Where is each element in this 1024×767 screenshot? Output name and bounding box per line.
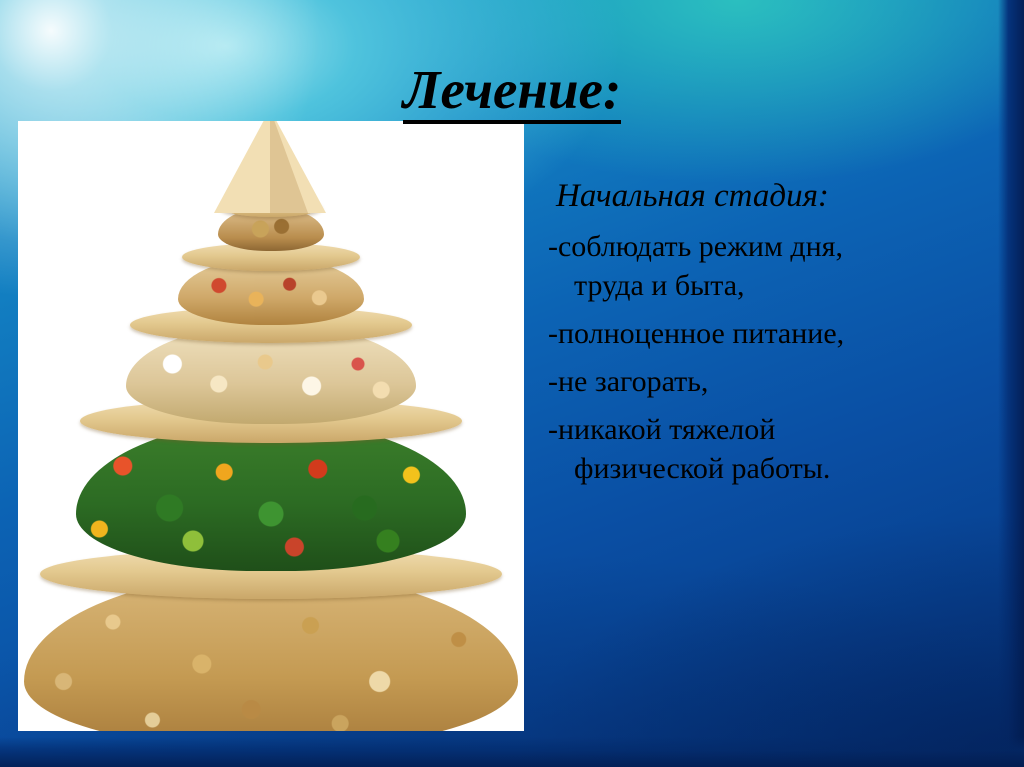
bullet-line-2: физической работы. <box>548 449 1004 488</box>
bullet-line-1: -никакой тяжелой <box>548 413 775 446</box>
bullet-line-1: -не загорать, <box>548 365 708 398</box>
pyramid-tier-vegetables <box>76 421 466 571</box>
pyramid-apex-shade <box>270 121 308 213</box>
slide-edge-bottom <box>0 737 1024 767</box>
food-pyramid-image <box>18 121 524 731</box>
page-title: Лечение: <box>0 58 1024 124</box>
list-item: -никакой тяжелой физической работы. <box>548 410 1004 488</box>
list-item: -полноценное питание, <box>548 314 1004 353</box>
bullet-list: -соблюдать режим дня, труда и быта, -пол… <box>548 227 1004 488</box>
list-item: -соблюдать режим дня, труда и быта, <box>548 227 1004 305</box>
section-subheading: Начальная стадия: <box>556 178 1004 215</box>
slide: Лечение: Начальная стадия: <box>0 0 1024 767</box>
bullet-line-1: -соблюдать режим дня, <box>548 230 843 263</box>
treatment-text-block: Начальная стадия: -соблюдать режим дня, … <box>548 178 1004 497</box>
pyramid-illustration <box>18 121 524 731</box>
bullet-line-2: труда и быта, <box>548 266 1004 305</box>
page-title-text: Лечение: <box>403 61 622 124</box>
bullet-line-1: -полноценное питание, <box>548 317 844 350</box>
list-item: -не загорать, <box>548 362 1004 401</box>
